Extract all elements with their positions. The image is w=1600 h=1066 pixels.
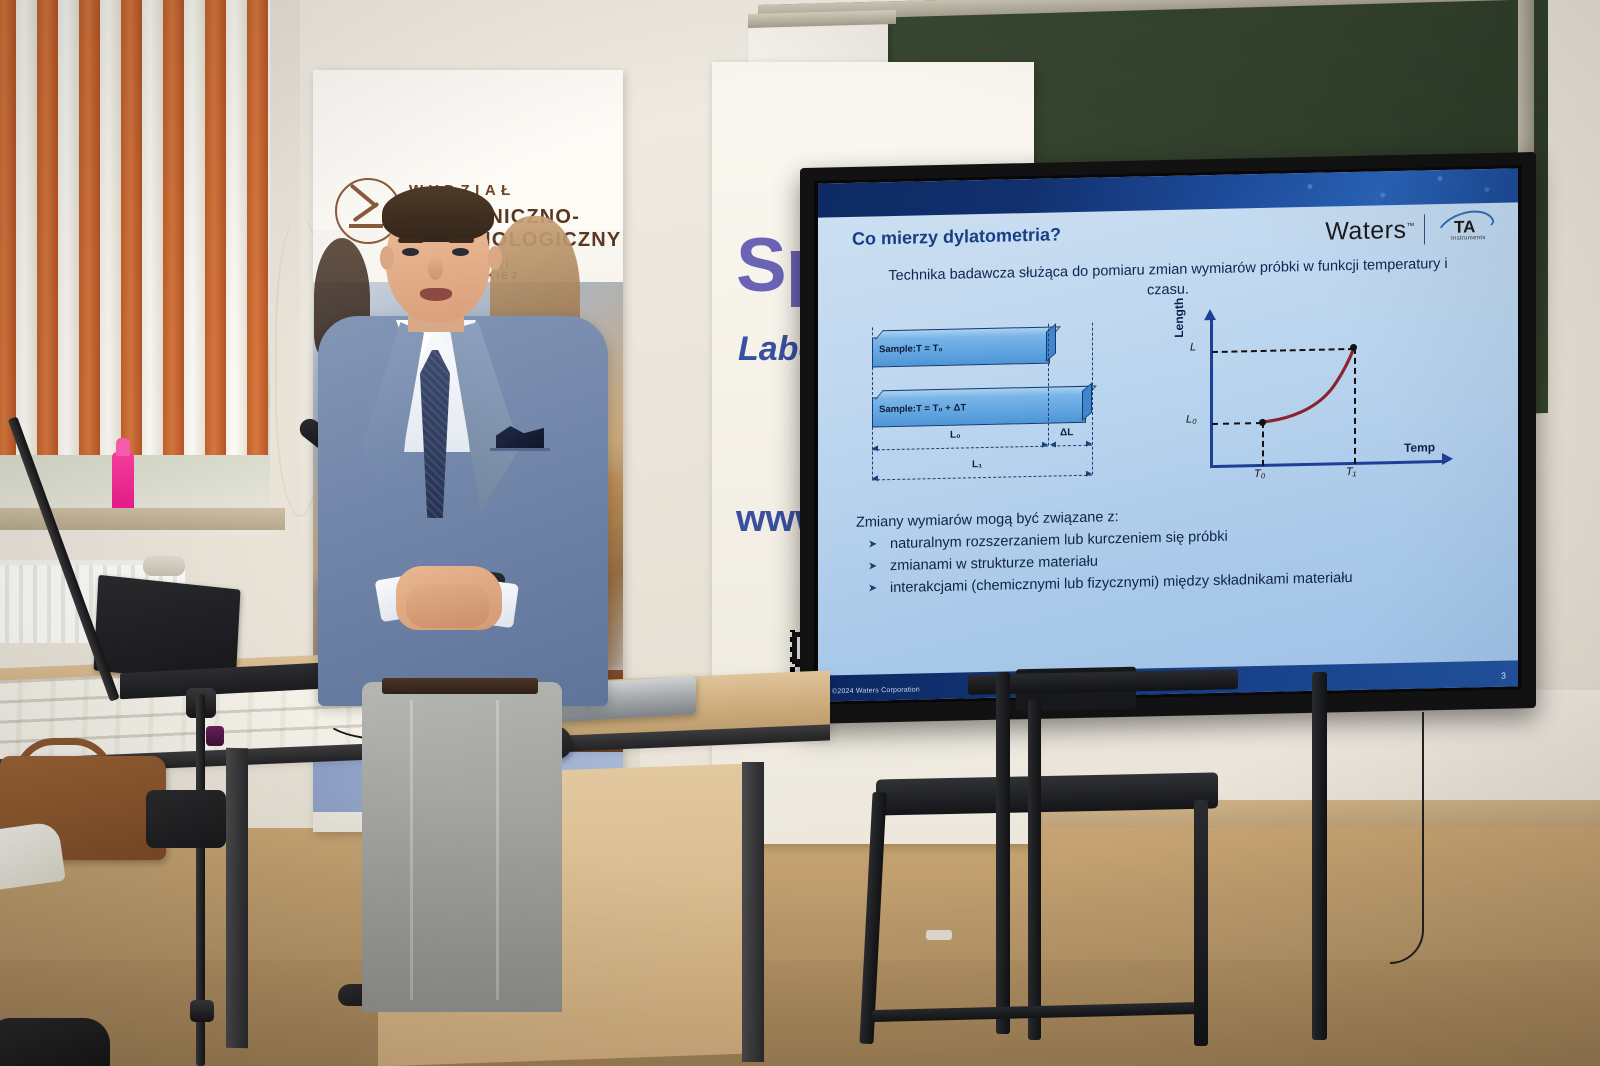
slide-bullet-block: Zmiany wymiarów mogą być związane z: nat… xyxy=(856,499,1476,601)
blind-slat[interactable] xyxy=(79,0,100,455)
display-power-cable xyxy=(1390,712,1424,964)
length-vs-temp-chart: Length Temp L L₀ T₀ T₁ xyxy=(1166,310,1456,496)
slide-screen: Co mierzy dylatometria? Waters™ TA Instr… xyxy=(818,168,1518,701)
trouser-crease-left xyxy=(410,700,413,1000)
belt xyxy=(382,678,538,694)
presentation-room-photo: WYDZIAŁ MECHANICZNO- -TECHNOLOGICZNY POL… xyxy=(0,0,1600,1066)
dim-label-L0: L₀ xyxy=(950,430,961,441)
blind-slat[interactable] xyxy=(16,0,37,455)
sample-bar-initial: Sample:T = T₀ xyxy=(872,334,1050,368)
slide-page-number: 3 xyxy=(1501,671,1506,681)
cart-leg xyxy=(996,672,1010,1034)
mic-stand-knob[interactable] xyxy=(206,726,224,746)
cart-leg xyxy=(1028,700,1041,1040)
logo-divider xyxy=(1424,214,1425,244)
slide-subtitle: Technika badawcza służąca do pomiaru zmi… xyxy=(870,253,1466,306)
dim-arrow-right xyxy=(1086,441,1092,447)
waters-ta-logo: Waters™ TA Instruments xyxy=(1325,211,1492,249)
desk-leg xyxy=(742,762,764,1062)
blind-slat[interactable] xyxy=(100,0,121,455)
waters-text: Waters xyxy=(1325,215,1406,245)
blind-slat[interactable] xyxy=(226,0,247,455)
black-bag xyxy=(146,790,226,848)
floor-debris xyxy=(926,930,952,940)
foreground-chair xyxy=(0,1018,110,1066)
blind-slat[interactable] xyxy=(58,0,79,455)
blind-slat[interactable] xyxy=(247,0,268,455)
dim-arrow-right xyxy=(1086,471,1092,477)
dim-arrow-right xyxy=(1042,442,1048,448)
window xyxy=(0,0,270,535)
trouser-crease-right xyxy=(496,700,499,1000)
blind-slat[interactable] xyxy=(163,0,184,455)
blind-slat[interactable] xyxy=(37,0,58,455)
presenter xyxy=(300,180,630,820)
waters-wordmark: Waters™ xyxy=(1325,215,1415,246)
dim-extension-mid xyxy=(1048,324,1049,446)
eyebrow-left xyxy=(398,238,424,243)
sample-label-expanded: Sample:T = T₀ + ΔT xyxy=(879,402,966,415)
radiator-valve[interactable] xyxy=(143,556,185,576)
dim-extension-left xyxy=(872,327,873,479)
sample-expansion-diagram: Sample:T = T₀ Sample:T = T₀ + ΔT L₀ ΔL xyxy=(864,321,1164,498)
blind-slat[interactable] xyxy=(0,0,16,455)
slide-title: Co mierzy dylatometria? xyxy=(852,224,1061,250)
ear-right xyxy=(488,246,502,270)
ta-instruments-logo: TA Instruments xyxy=(1434,211,1492,246)
trademark-icon: ™ xyxy=(1407,221,1416,230)
chart-curve xyxy=(1166,310,1456,496)
dim-label-L1: L₁ xyxy=(972,459,982,470)
chart-x-tick-T1: T₁ xyxy=(1346,466,1356,478)
eye-right xyxy=(452,248,469,256)
blind-slat[interactable] xyxy=(184,0,205,455)
spray-bottle xyxy=(112,452,134,514)
white-bag xyxy=(0,821,66,891)
blind-slat[interactable] xyxy=(121,0,142,455)
bar-top-face xyxy=(875,386,1097,400)
bullet-list: naturalnym rozszerzaniem lub kurczeniem … xyxy=(856,521,1476,600)
hair xyxy=(382,186,494,242)
bar-side-face xyxy=(1082,382,1092,421)
blind-slat[interactable] xyxy=(142,0,163,455)
sample-label-initial: Sample:T = T₀ xyxy=(879,343,943,355)
ear-left xyxy=(380,246,394,270)
dim-label-dL: ΔL xyxy=(1060,427,1073,438)
chart-y-tick-L: L xyxy=(1190,341,1196,353)
cart-lower-shelf xyxy=(876,772,1218,815)
flat-panel-display[interactable]: Co mierzy dylatometria? Waters™ TA Instr… xyxy=(800,152,1536,724)
mouth xyxy=(420,288,452,301)
dim-arrow-left xyxy=(872,475,878,481)
trousers xyxy=(362,682,562,1012)
sample-bar-expanded: Sample:T = T₀ + ΔT xyxy=(872,393,1086,428)
chart-x-tick-T0: T₀ xyxy=(1254,468,1265,480)
instruments-text: Instruments xyxy=(1451,235,1486,242)
dim-line-L0 xyxy=(872,446,1048,451)
blind-slat[interactable] xyxy=(205,0,226,455)
slide-top-band xyxy=(818,168,1518,217)
hand-overlap xyxy=(406,584,490,628)
bar-top-face xyxy=(875,326,1061,339)
cart-leg xyxy=(1312,672,1327,1040)
mic-stand-lock[interactable] xyxy=(190,1000,214,1022)
cart-leg xyxy=(1194,800,1208,1046)
breast-pocket xyxy=(490,448,550,451)
eye-left xyxy=(402,248,419,256)
dim-arrow-left xyxy=(872,445,878,451)
dim-line-L1 xyxy=(872,475,1092,481)
dim-extension-right xyxy=(1092,323,1093,475)
dim-arrow-left xyxy=(1050,441,1056,447)
nose xyxy=(428,258,443,280)
chart-y-tick-L0: L₀ xyxy=(1186,413,1197,425)
desk-leg xyxy=(226,748,248,1048)
eyebrow-right xyxy=(448,238,474,243)
